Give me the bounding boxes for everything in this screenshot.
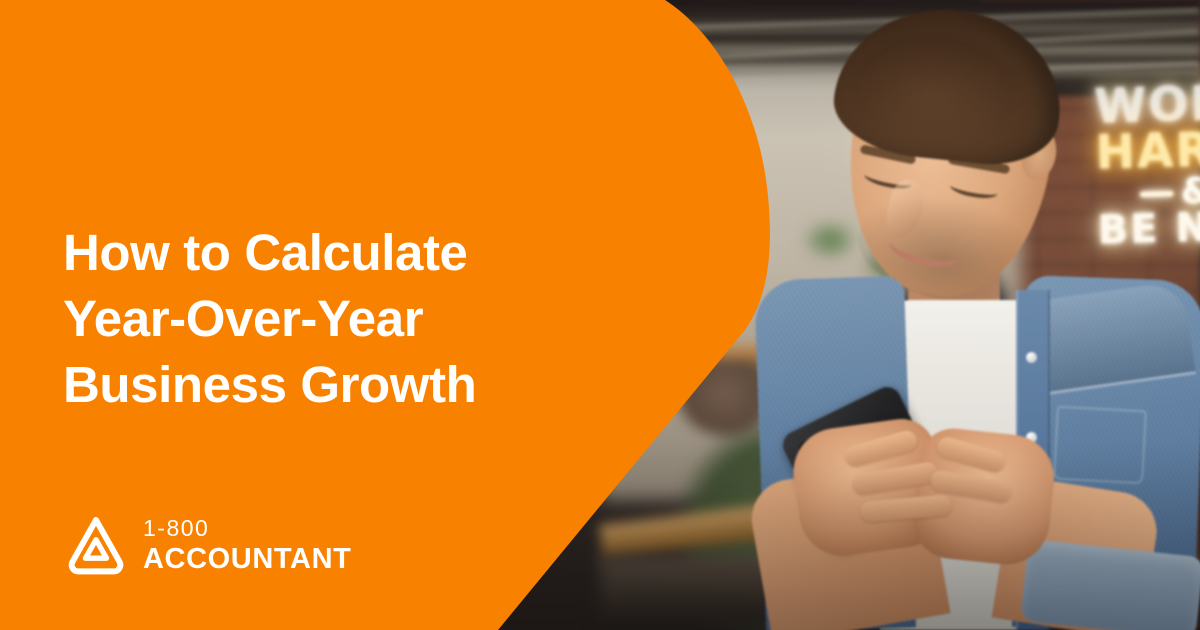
logo-triangle-a-icon bbox=[63, 512, 129, 578]
page-title: How to Calculate Year-Over-Year Business… bbox=[63, 220, 603, 418]
headline-line-3: Business Growth bbox=[63, 352, 603, 418]
headline-line-1: How to Calculate bbox=[63, 220, 603, 286]
chest-pocket bbox=[1053, 406, 1147, 485]
headline-line-2: Year-Over-Year bbox=[63, 286, 603, 352]
logo-company-name: ACCOUNTANT bbox=[143, 545, 351, 574]
brand-logo[interactable]: 1-800 ACCOUNTANT bbox=[63, 512, 351, 578]
article-hero-banner: WORK HARD & BE NICE bbox=[0, 0, 1200, 630]
shirt-button bbox=[1026, 352, 1037, 363]
logo-wordmark: 1-800 ACCOUNTANT bbox=[143, 517, 351, 574]
logo-phone-number: 1-800 bbox=[143, 517, 351, 540]
photo-subject-man bbox=[740, 0, 1200, 630]
